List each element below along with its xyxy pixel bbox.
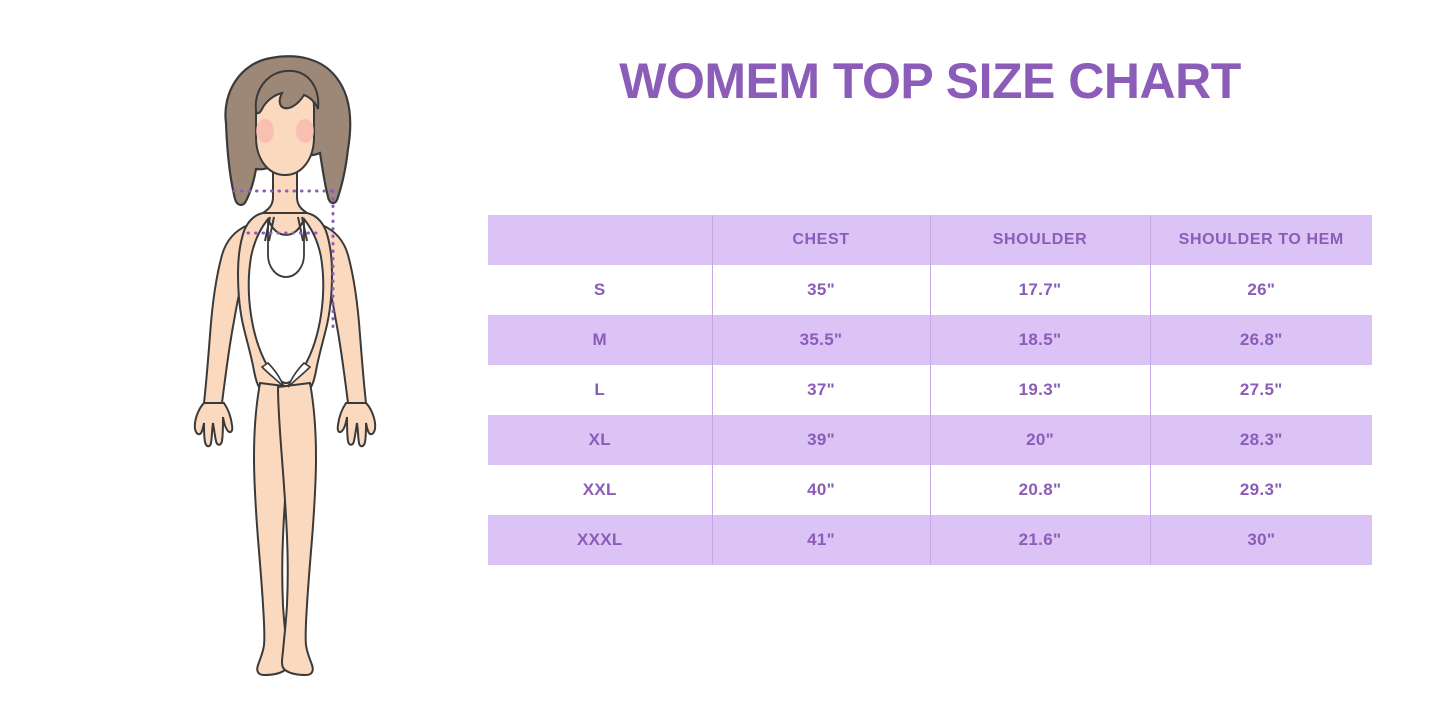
table-row: M35.5"18.5"26.8": [488, 315, 1372, 365]
female-body-illustration: [170, 45, 440, 685]
column-header-shoulder-to-hem: SHOULDER TO HEM: [1150, 215, 1372, 265]
hand-left: [195, 403, 232, 446]
illustration-panel: SHOULDER CHEST SHOULDER TO HEM: [0, 0, 470, 723]
cell-shoulder: 19.3": [930, 365, 1150, 415]
size-chart-table: CHEST SHOULDER SHOULDER TO HEM S35"17.7"…: [488, 215, 1372, 565]
column-header-shoulder: SHOULDER: [930, 215, 1150, 265]
cell-size: XL: [488, 415, 712, 465]
cell-shoulder: 20": [930, 415, 1150, 465]
cell-shoulder-to-hem: 26": [1150, 265, 1372, 315]
cell-chest: 35.5": [712, 315, 930, 365]
column-header-size: [488, 215, 712, 265]
cell-shoulder-to-hem: 27.5": [1150, 365, 1372, 415]
page-title: WOMEM TOP SIZE CHART: [488, 52, 1372, 110]
table-row: XXXL41"21.6"30": [488, 515, 1372, 565]
table-row: L37"19.3"27.5": [488, 365, 1372, 415]
table-row: XL39"20"28.3": [488, 415, 1372, 465]
cell-chest: 41": [712, 515, 930, 565]
cell-chest: 37": [712, 365, 930, 415]
cell-size: L: [488, 365, 712, 415]
cell-shoulder: 20.8": [930, 465, 1150, 515]
cell-size: XXXL: [488, 515, 712, 565]
cell-shoulder-to-hem: 30": [1150, 515, 1372, 565]
cell-shoulder: 17.7": [930, 265, 1150, 315]
table-header-row: CHEST SHOULDER SHOULDER TO HEM: [488, 215, 1372, 265]
cell-size: S: [488, 265, 712, 315]
cell-chest: 39": [712, 415, 930, 465]
cell-size: M: [488, 315, 712, 365]
cell-chest: 40": [712, 465, 930, 515]
column-header-chest: CHEST: [712, 215, 930, 265]
cell-shoulder: 18.5": [930, 315, 1150, 365]
cell-size: XXL: [488, 465, 712, 515]
cell-shoulder: 21.6": [930, 515, 1150, 565]
table-row: XXL40"20.8"29.3": [488, 465, 1372, 515]
cell-shoulder-to-hem: 29.3": [1150, 465, 1372, 515]
cell-shoulder-to-hem: 26.8": [1150, 315, 1372, 365]
blush-right: [296, 119, 314, 143]
cell-chest: 35": [712, 265, 930, 315]
table-row: S35"17.7"26": [488, 265, 1372, 315]
hand-right: [338, 403, 375, 446]
cell-shoulder-to-hem: 28.3": [1150, 415, 1372, 465]
blush-left: [256, 119, 274, 143]
